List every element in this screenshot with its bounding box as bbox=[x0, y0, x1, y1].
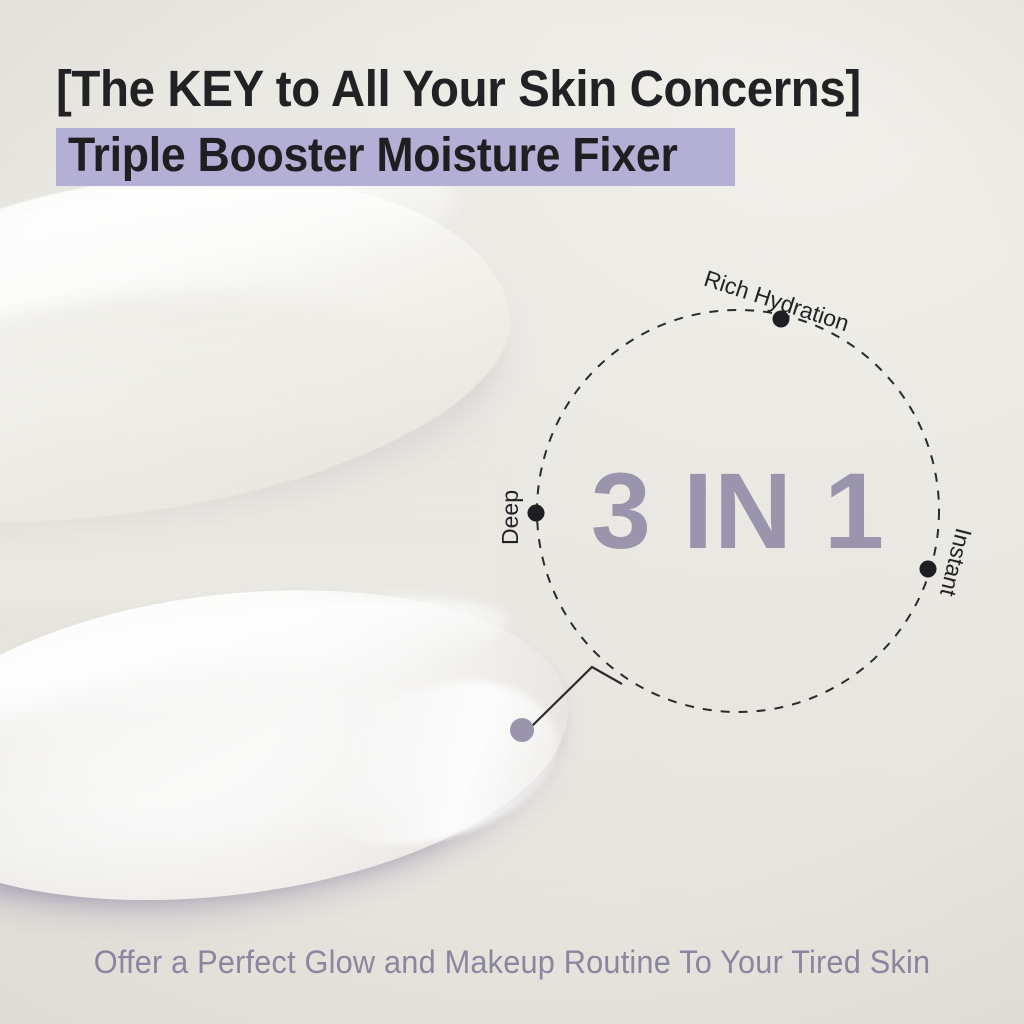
callout-dot bbox=[510, 718, 534, 742]
footer-tagline: Offer a Perfect Glow and Makeup Routine … bbox=[20, 944, 1003, 981]
node-label-deep: Deep bbox=[497, 490, 524, 545]
center-label-3-in-1: 3 IN 1 bbox=[591, 457, 885, 565]
promo-canvas: [The KEY to All Your Skin Concerns] Trip… bbox=[0, 0, 1024, 1024]
callout-leader-line bbox=[532, 667, 622, 726]
node-dot-instant bbox=[920, 561, 937, 578]
node-dot-deep bbox=[528, 505, 545, 522]
